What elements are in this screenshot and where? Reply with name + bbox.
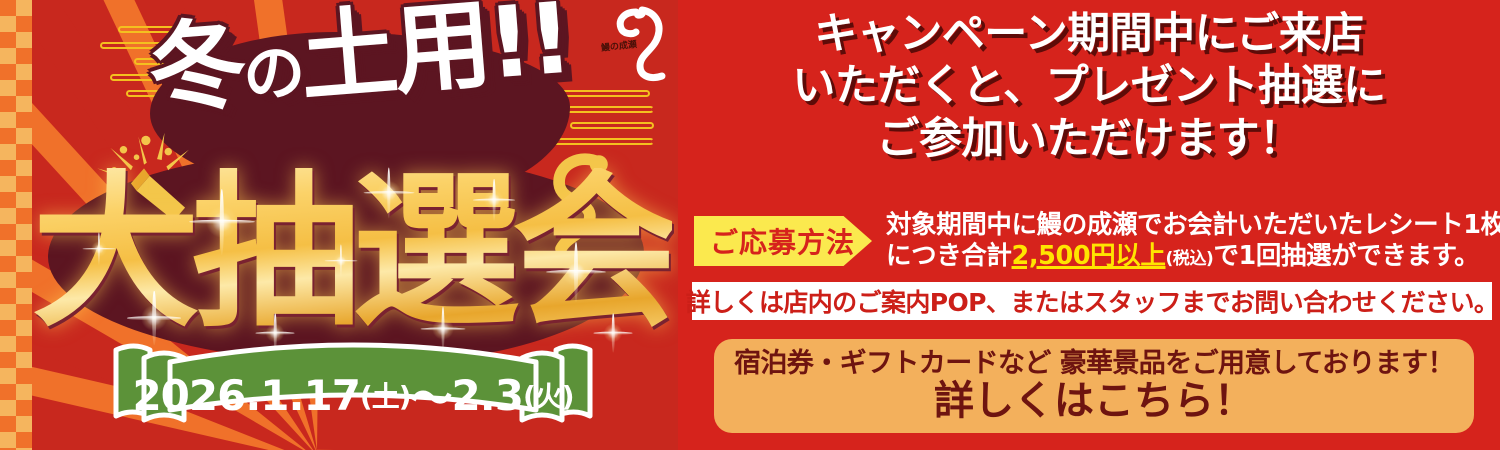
info-bar-text: 詳しくは店内のご案内POP、またはスタッフまでお問い合わせください。 [686,283,1499,319]
apply-line-2-prefix: につき合計 [886,241,1012,271]
headline-line-2: いただくと、プレゼント抽選に [678,60,1500,112]
title-main: 大抽選会 [42,152,662,352]
promo-banner: 冬の土用!! 大抽選会 2026.1.17(土)〜2.3(火) [0,0,1500,450]
apply-tax-note: (税込) [1165,249,1213,269]
headline-line-1: キャンペーン期間中にご来店 [678,8,1500,60]
checkerboard-border [0,0,32,450]
how-to-apply-badge: ご応募方法 [694,216,872,266]
cta-main-text: 詳しくはこちら！ [934,379,1254,424]
date-range: 2026.1.17(土)〜2.3(火) [108,345,598,445]
brand-logo: 鰻の成瀬 [596,2,676,88]
date-ribbon: 2026.1.17(土)〜2.3(火) [108,336,598,436]
how-to-apply-text: 対象期間中に鰻の成瀬でお会計いただいたレシート1枚 につき合計2,500円以上(… [886,210,1500,271]
details-cta-button[interactable]: 宿泊券・ギフトカードなど 豪華景品をご用意しております！ 詳しくはこちら！ [714,339,1474,433]
headline: キャンペーン期間中にご来店 いただくと、プレゼント抽選に ご参加いただけます！ [678,8,1500,165]
info-bar: 詳しくは店内のご案内POP、またはスタッフまでお問い合わせください。 [692,282,1492,320]
title-main-text: 大抽選会 [32,168,672,336]
how-to-apply-line-1: 対象期間中に鰻の成瀬でお会計いただいたレシート1枚 [886,210,1500,241]
title-season-text: 冬の土用!! [145,0,573,120]
headline-line-3: ご参加いただけます！ [678,113,1500,165]
message-panel: キャンペーン期間中にご来店 いただくと、プレゼント抽選に ご参加いただけます！ … [678,0,1500,450]
cta-subtext: 宿泊券・ギフトカードなど 豪華景品をご用意しております！ [734,348,1454,379]
how-to-apply-row: ご応募方法 対象期間中に鰻の成瀬でお会計いただいたレシート1枚 につき合計2,5… [694,210,1494,272]
apply-amount: 2,500円以上 [1012,241,1166,271]
key-visual-panel: 冬の土用!! 大抽選会 2026.1.17(土)〜2.3(火) [0,0,678,450]
how-to-apply-badge-label: ご応募方法 [710,221,855,261]
apply-line-2-suffix: で1回抽選ができます。 [1213,241,1479,271]
how-to-apply-line-2: につき合計2,500円以上(税込)で1回抽選ができます。 [886,241,1500,272]
